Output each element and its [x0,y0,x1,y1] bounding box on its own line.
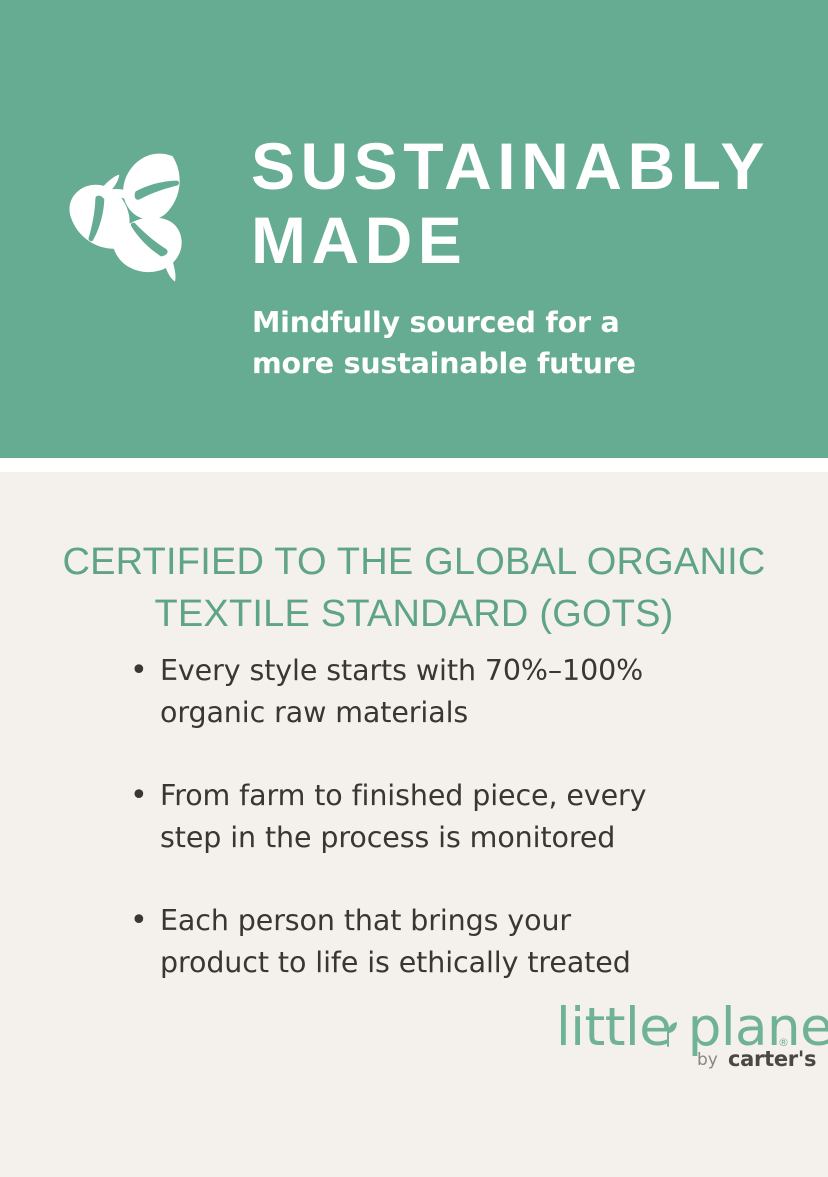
certification-bullet-list: • Every style starts with 70%–100% organ… [130,650,740,984]
hero-subtitle: Mindfully sourced for a more sustainable… [252,302,722,384]
section-divider [0,458,828,472]
bullet-dot-icon: • [130,650,160,692]
bullet-dot-icon: • [130,900,160,942]
list-item-text: From farm to finished piece, every step … [160,775,740,859]
list-item-text: Every style starts with 70%–100% organic… [160,650,740,734]
sprout-leaf-icon [657,1021,679,1047]
hero-banner: SUSTAINABLY MADE Mindfully sourced for a… [0,0,828,458]
little-planet-logo: little planet ® by carter's [556,1000,792,1076]
list-item: • Every style starts with 70%–100% organ… [130,650,740,734]
hero-content: SUSTAINABLY MADE Mindfully sourced for a… [0,0,828,458]
list-item: • Each person that brings your product t… [130,900,740,984]
list-item: • From farm to finished piece, every ste… [130,775,740,859]
by-label: by [697,1050,718,1070]
certification-heading: CERTIFIED TO THE GLOBAL ORGANIC TEXTILE … [40,536,788,640]
three-leaves-recycle-icon [58,140,204,286]
list-item-text: Each person that brings your product to … [160,900,740,984]
hero-title: SUSTAINABLY MADE [251,129,811,277]
bullet-dot-icon: • [130,775,160,817]
carters-brand-label: carter's [728,1047,816,1071]
